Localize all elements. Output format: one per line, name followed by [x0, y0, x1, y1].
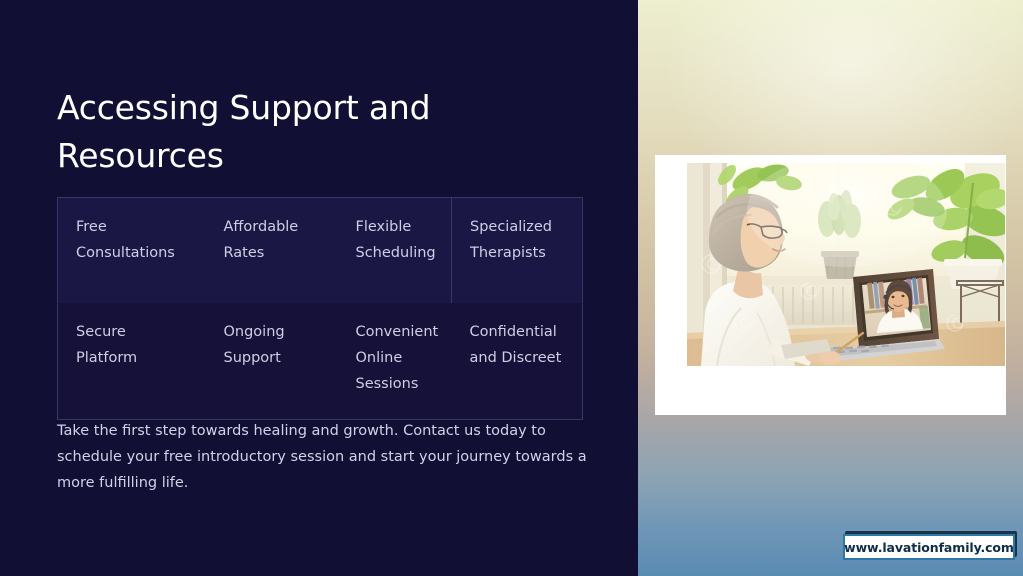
- photo-illustration: [687, 163, 1005, 366]
- website-url-badge[interactable]: www.lavationfamily.com: [843, 534, 1015, 560]
- page-title: Accessing Support and Resources: [57, 84, 577, 180]
- therapy-video-call-photo: [687, 163, 1005, 366]
- feature-table: Free Consultations Affordable Rates Flex…: [57, 197, 583, 420]
- table-cell: Secure Platform: [58, 303, 206, 420]
- table-row: Secure Platform Ongoing Support Convenie…: [58, 303, 583, 420]
- table-cell: Ongoing Support: [206, 303, 338, 420]
- body-paragraph: Take the first step towards healing and …: [57, 418, 587, 496]
- table-cell: Specialized Therapists: [452, 198, 583, 303]
- left-content-panel: Accessing Support and Resources Free Con…: [0, 0, 638, 576]
- table-cell: Confidential and Discreet: [452, 303, 583, 420]
- slide: Accessing Support and Resources Free Con…: [0, 0, 1023, 576]
- table-cell: Affordable Rates: [206, 198, 338, 303]
- image-panel: www.lavationfamily.com: [638, 0, 1023, 576]
- table-cell: Convenient Online Sessions: [338, 303, 452, 420]
- table-cell: Flexible Scheduling: [338, 198, 452, 303]
- table-cell: Free Consultations: [58, 198, 206, 303]
- table-row: Free Consultations Affordable Rates Flex…: [58, 198, 583, 303]
